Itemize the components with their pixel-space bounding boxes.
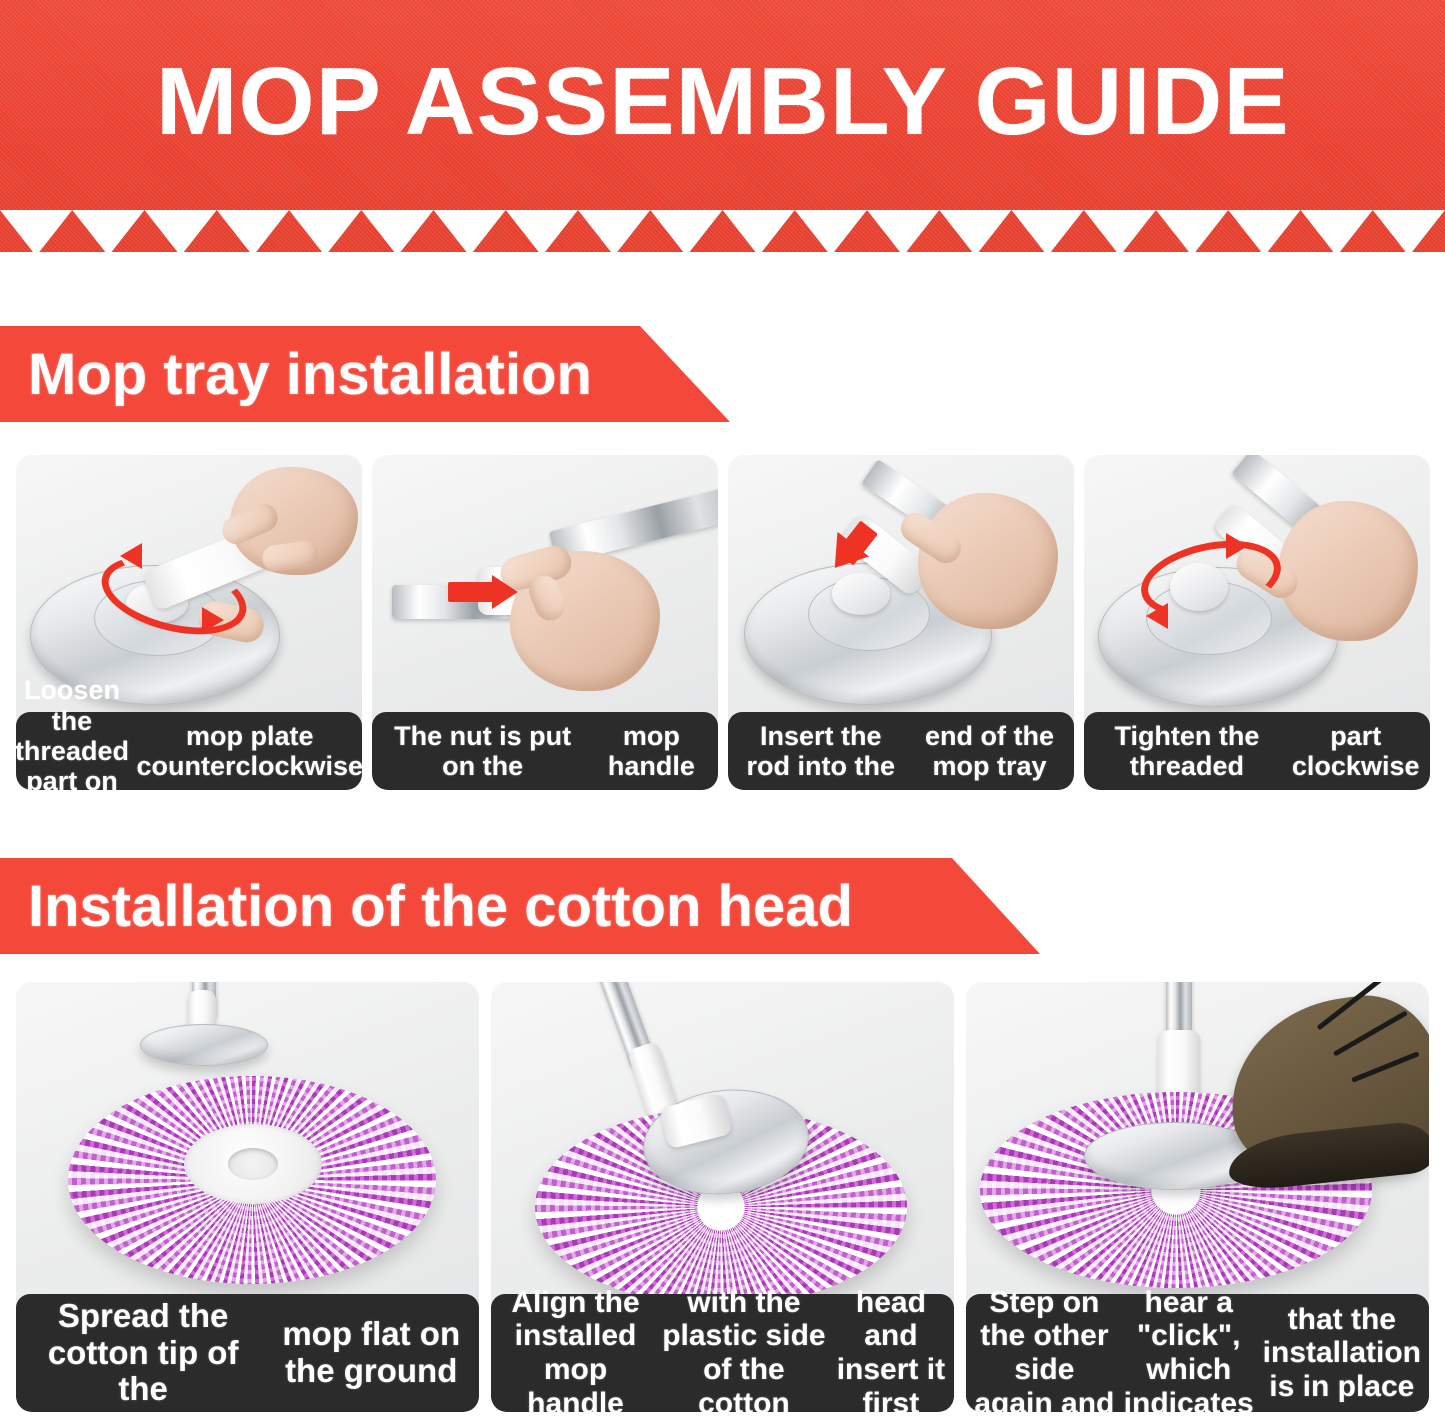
arrow-head-right bbox=[202, 607, 224, 633]
section-heading-mop-tray-installation: Mop tray installation bbox=[0, 326, 730, 422]
caption-line-3: that the installation is in place bbox=[1263, 1303, 1421, 1404]
caption-line-1: Align the installed mop handle bbox=[499, 1286, 652, 1412]
step-caption-4: Tighten the threaded part clockwise bbox=[1084, 712, 1430, 790]
step-card-2: The nut is put on the mop handle bbox=[372, 455, 718, 790]
step-caption-1: Loosen the threaded part on the mop plat… bbox=[16, 712, 362, 790]
caption-line-2: end of the mop tray bbox=[913, 721, 1066, 781]
caption-line-1: Insert the rod into the bbox=[736, 721, 905, 781]
step-caption-3: Insert the rod into the end of the mop t… bbox=[728, 712, 1074, 790]
caption-line-1: Loosen the threaded part on the bbox=[16, 675, 129, 790]
step-caption-6: Align the installed mop handle with the … bbox=[491, 1294, 954, 1412]
caption-line-3: head and insert it first bbox=[836, 1286, 946, 1412]
insert-arrow-shaft bbox=[448, 582, 496, 602]
step-card-3: Insert the rod into the end of the mop t… bbox=[728, 455, 1074, 790]
page-title: MOP ASSEMBLY GUIDE bbox=[156, 54, 1290, 150]
caption-line-2: with the plastic side of the cotton bbox=[660, 1286, 827, 1412]
step-caption-5: Spread the cotton tip of the mop flat on… bbox=[16, 1294, 479, 1412]
caption-line-1: Tighten the threaded bbox=[1092, 721, 1282, 781]
arrow-head-left bbox=[1146, 603, 1168, 629]
caption-line-2: hear a "click", which indicates bbox=[1123, 1286, 1254, 1412]
caption-line-2: mop handle bbox=[593, 721, 710, 781]
step-card-7: Step on the other side again and hear a … bbox=[966, 982, 1429, 1412]
caption-line-1: The nut is put on the bbox=[380, 721, 585, 781]
step-card-4: Tighten the threaded part clockwise bbox=[1084, 455, 1430, 790]
step-row-cotton-head-installation: Spread the cotton tip of the mop flat on… bbox=[16, 982, 1430, 1412]
step-row-mop-tray-installation: Loosen the threaded part on the mop plat… bbox=[16, 455, 1430, 790]
caption-line-2: mop flat on the ground bbox=[271, 1316, 471, 1390]
arrow-head-left bbox=[120, 543, 142, 569]
step-card-6: Align the installed mop handle with the … bbox=[491, 982, 954, 1412]
section-heading-installation-of-the-cotton-head: Installation of the cotton head bbox=[0, 858, 1040, 954]
step-caption-7: Step on the other side again and hear a … bbox=[966, 1294, 1429, 1412]
step-card-5: Spread the cotton tip of the mop flat on… bbox=[16, 982, 479, 1412]
step-card-1: Loosen the threaded part on the mop plat… bbox=[16, 455, 362, 790]
caption-line-2: mop plate counterclockwise bbox=[136, 721, 362, 781]
caption-line-2: part clockwise bbox=[1289, 721, 1422, 781]
step-caption-2: The nut is put on the mop handle bbox=[372, 712, 718, 790]
top-banner: MOP ASSEMBLY GUIDE bbox=[0, 0, 1445, 252]
insert-arrow-head bbox=[492, 575, 518, 609]
caption-line-1: Spread the cotton tip of the bbox=[24, 1298, 262, 1409]
arrow-head-right bbox=[1226, 533, 1248, 559]
caption-line-1: Step on the other side again and bbox=[974, 1286, 1115, 1412]
